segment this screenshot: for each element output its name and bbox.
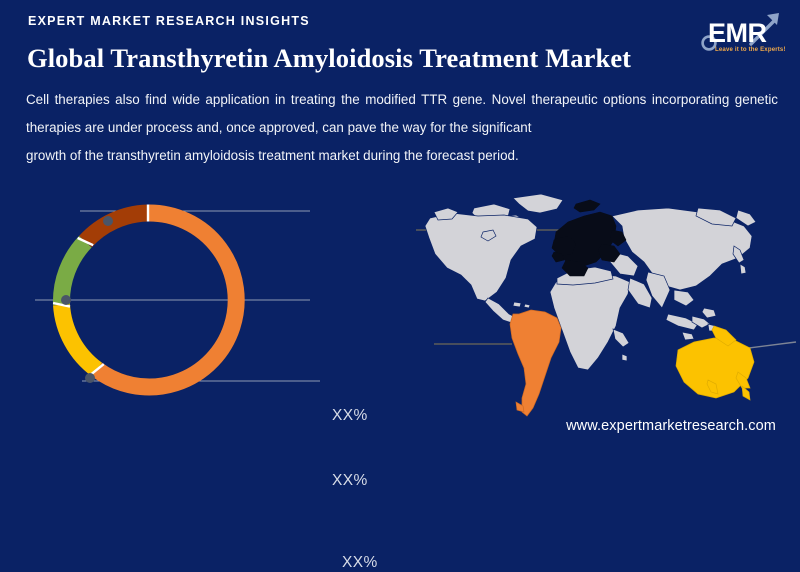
callout-dot-2: [61, 295, 71, 305]
donut-segment-4: [85, 213, 148, 242]
logo-wordmark: EMR: [708, 18, 767, 48]
callout-dot-3: [85, 373, 95, 383]
emr-logo[interactable]: EMR Leave it to the Experts!: [688, 6, 792, 54]
page-title: Global Transthyretin Amyloidosis Treatme…: [27, 43, 631, 74]
map-region-south-america: [510, 310, 561, 416]
chart-callout-label-1: XX%: [332, 407, 368, 425]
intro-paragraph: Cell therapies also find wide applicatio…: [26, 86, 778, 170]
donut-chart: XX% XX% XX%: [20, 188, 400, 413]
callout-dot-1: [103, 216, 113, 226]
intro-paragraph-last-line: growth of the transthyretin amyloidosis …: [26, 142, 778, 170]
slide-canvas: EXPERT MARKET RESEARCH INSIGHTS Global T…: [0, 0, 800, 450]
intro-paragraph-main: Cell therapies also find wide applicatio…: [26, 92, 778, 135]
chart-callout-label-2: XX%: [332, 472, 368, 490]
website-url[interactable]: www.expertmarketresearch.com: [566, 418, 776, 434]
world-map: [416, 186, 800, 424]
chart-callout-label-3: XX%: [342, 554, 378, 572]
donut-segment-2: [62, 305, 98, 370]
kicker-text: EXPERT MARKET RESEARCH INSIGHTS: [28, 14, 310, 28]
logo-tagline: Leave it to the Experts!: [715, 46, 786, 53]
